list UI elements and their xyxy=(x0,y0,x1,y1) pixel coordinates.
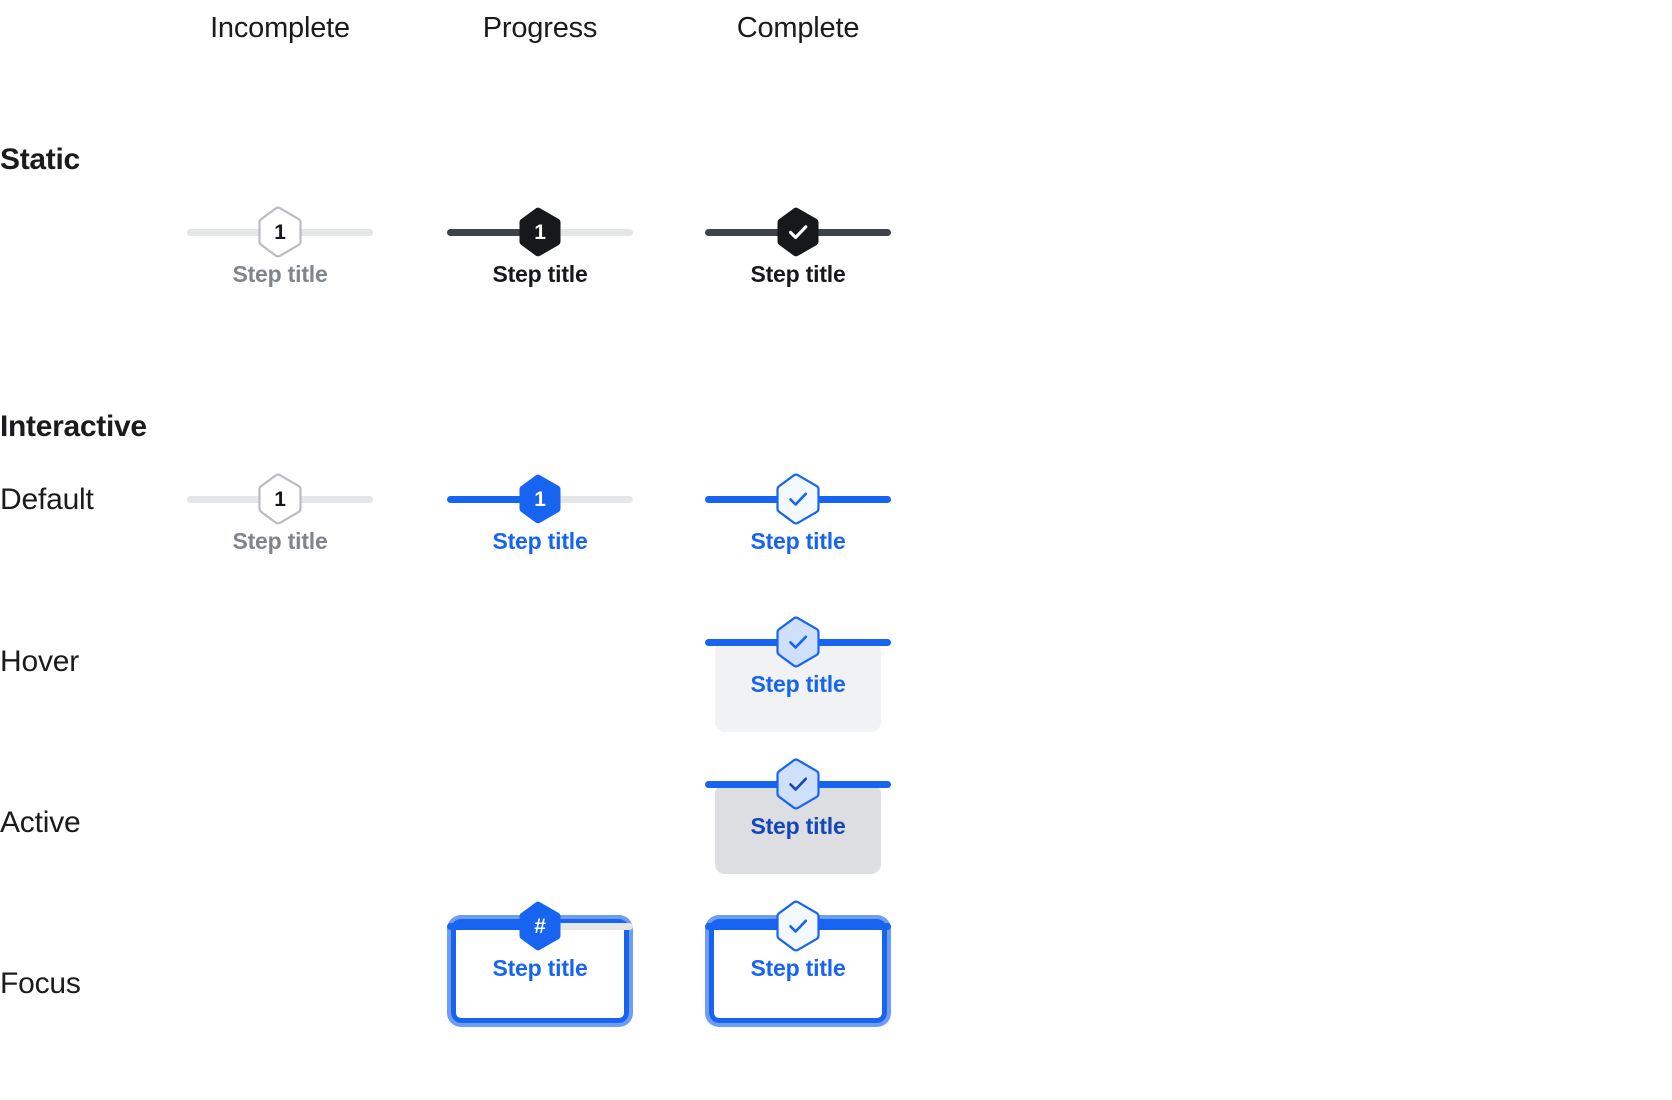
step-rail xyxy=(705,210,891,254)
step-default-incomplete[interactable]: 1 Step title xyxy=(187,477,373,556)
track-right-complete xyxy=(813,229,891,236)
track-left-complete xyxy=(705,923,783,930)
track-right-incomplete xyxy=(555,496,633,503)
step-focus-progress[interactable]: # Step title xyxy=(447,904,633,983)
step-active-complete[interactable]: Step title xyxy=(705,762,891,841)
track-right-incomplete xyxy=(295,496,373,503)
track-left-complete xyxy=(447,229,525,236)
step-static-incomplete: 1 Step title xyxy=(187,210,373,289)
track-right-incomplete xyxy=(555,229,633,236)
step-default-complete[interactable]: Step title xyxy=(705,477,891,556)
hexagon-tint-blue-icon xyxy=(775,473,821,525)
hexagon-outline-icon: 1 xyxy=(257,473,303,525)
step-caption: Step title xyxy=(447,954,633,983)
step-caption: Step title xyxy=(705,954,891,983)
column-header-incomplete: Incomplete xyxy=(210,12,350,45)
track-left-incomplete xyxy=(187,496,265,503)
step-caption: Step title xyxy=(705,527,891,556)
hexagon-tint-blue-icon xyxy=(775,616,821,668)
section-label-interactive: Interactive xyxy=(0,410,147,444)
step-rail: 1 xyxy=(187,477,373,521)
step-rail xyxy=(705,904,891,948)
step-caption: Step title xyxy=(187,527,373,556)
hexagon-filled-dark-icon: 1 xyxy=(517,206,563,258)
step-rail xyxy=(705,620,891,664)
hexagon-outline-icon: 1 xyxy=(257,206,303,258)
step-focus-complete[interactable]: Step title xyxy=(705,904,891,983)
row-label-default: Default xyxy=(0,483,94,517)
step-rail: 1 xyxy=(187,210,373,254)
step-caption: Step title xyxy=(705,670,891,699)
hexagon-filled-dark-icon xyxy=(775,206,821,258)
track-right-complete xyxy=(813,496,891,503)
step-caption: Step title xyxy=(187,260,373,289)
hexagon-filled-blue-icon: # xyxy=(517,900,563,952)
hexagon-filled-blue-icon: 1 xyxy=(517,473,563,525)
step-caption: Step title xyxy=(705,260,891,289)
track-right-complete xyxy=(813,781,891,788)
track-right-complete xyxy=(813,639,891,646)
step-hover-complete[interactable]: Step title xyxy=(705,620,891,699)
step-rail: 1 xyxy=(447,477,633,521)
hexagon-tint-blue-icon xyxy=(775,758,821,810)
hexagon-tint-blue-icon xyxy=(775,900,821,952)
column-header-progress: Progress xyxy=(483,12,597,45)
step-default-progress[interactable]: 1 Step title xyxy=(447,477,633,556)
step-caption: Step title xyxy=(447,260,633,289)
step-rail: 1 xyxy=(447,210,633,254)
stepper-spec-sheet: Incomplete Progress Complete Static Inte… xyxy=(0,0,1672,1100)
track-left-complete xyxy=(705,639,783,646)
track-left-complete xyxy=(447,923,525,930)
row-label-hover: Hover xyxy=(0,645,79,679)
track-left-complete xyxy=(705,229,783,236)
step-rail xyxy=(705,477,891,521)
step-rail xyxy=(705,762,891,806)
track-right-complete xyxy=(813,923,891,930)
step-rail: # xyxy=(447,904,633,948)
step-caption: Step title xyxy=(705,812,891,841)
step-static-complete: Step title xyxy=(705,210,891,289)
column-header-complete: Complete xyxy=(737,12,860,45)
track-left-complete xyxy=(447,496,525,503)
section-label-static: Static xyxy=(0,143,80,177)
track-left-complete xyxy=(705,496,783,503)
track-right-incomplete xyxy=(295,229,373,236)
track-left-incomplete xyxy=(187,229,265,236)
track-right-incomplete xyxy=(555,923,633,930)
step-caption: Step title xyxy=(447,527,633,556)
row-label-focus: Focus xyxy=(0,967,81,1001)
row-label-active: Active xyxy=(0,806,81,840)
step-static-progress: 1 Step title xyxy=(447,210,633,289)
track-left-complete xyxy=(705,781,783,788)
